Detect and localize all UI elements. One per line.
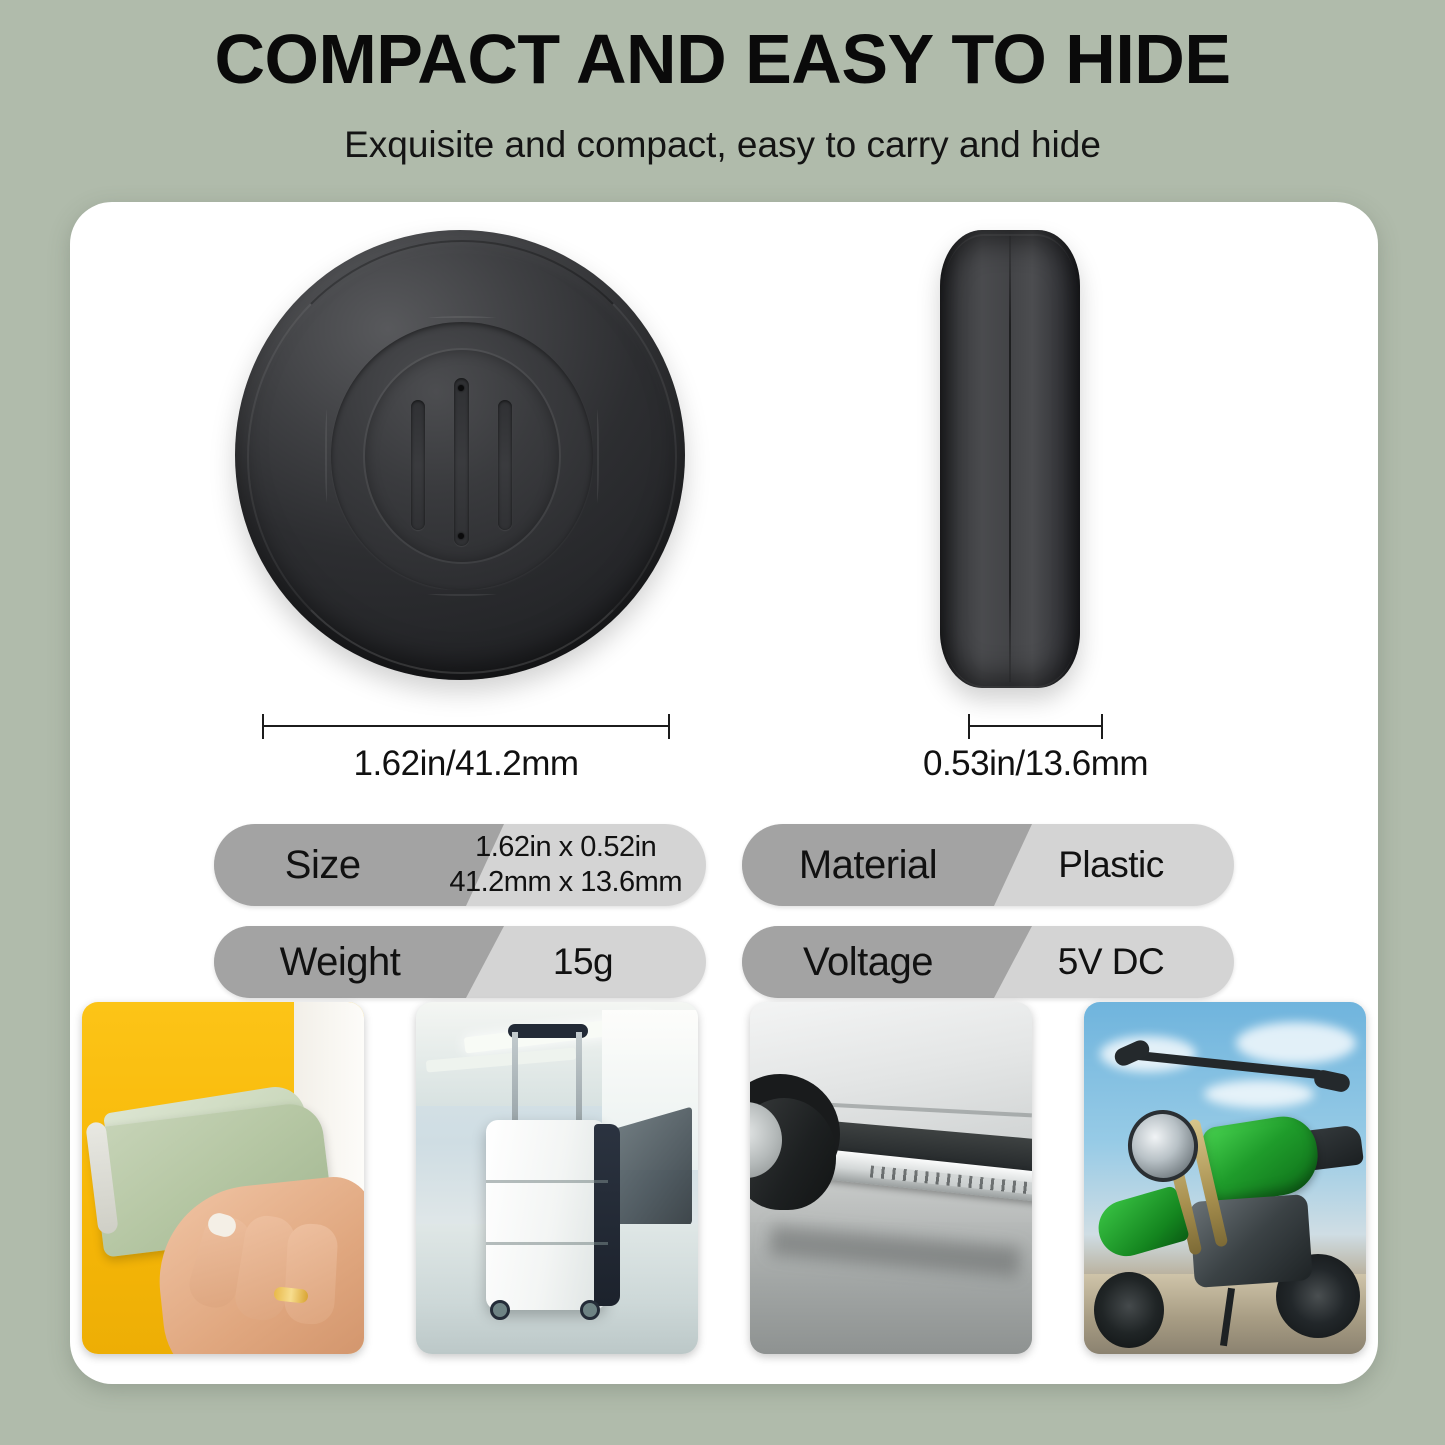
spec-value-size-line2: 41.2mm x 13.6mm bbox=[449, 865, 682, 900]
spec-row: Weight 15g Voltage 5V DC bbox=[70, 926, 1378, 998]
tracker-front-view-image bbox=[235, 230, 685, 680]
motorcycle-fuel-tank bbox=[1201, 1112, 1324, 1207]
finger bbox=[283, 1223, 338, 1325]
content-card: 1.62in/41.2mm 0.53in/13.6mm Size 1.62in … bbox=[70, 202, 1378, 1384]
suitcase-handle-bar bbox=[512, 1032, 518, 1124]
spec-list: Size 1.62in x 0.52in 41.2mm x 13.6mm Mat… bbox=[70, 824, 1378, 1018]
suitcase-handle-bar bbox=[576, 1032, 582, 1124]
suitcase-shell bbox=[486, 1120, 606, 1310]
cloud bbox=[1236, 1022, 1356, 1064]
page-title: COMPACT AND EASY TO HIDE bbox=[0, 0, 1445, 94]
spec-key-voltage: Voltage bbox=[742, 940, 994, 985]
spec-key-material: Material bbox=[742, 843, 994, 888]
photo-luggage bbox=[416, 1002, 698, 1354]
dimension-line bbox=[262, 725, 670, 727]
tracker-side-view-image bbox=[940, 230, 1080, 688]
spec-pill-weight: Weight 15g bbox=[214, 926, 706, 998]
spec-value-size-line1: 1.62in x 0.52in bbox=[449, 830, 682, 865]
dimension-line bbox=[968, 725, 1103, 727]
photo-car bbox=[750, 1002, 1032, 1354]
suitcase-side-panel bbox=[594, 1124, 620, 1306]
dimension-tick-left bbox=[968, 714, 970, 739]
photo-motorcycle bbox=[1084, 1002, 1366, 1354]
cloud bbox=[1204, 1080, 1314, 1108]
photo-wallet bbox=[82, 1002, 364, 1354]
page-subtitle: Exquisite and compact, easy to carry and… bbox=[0, 94, 1445, 163]
spec-value-weight: 15g bbox=[466, 942, 706, 982]
spec-value-voltage: 5V DC bbox=[994, 942, 1234, 982]
header: COMPACT AND EASY TO HIDE Exquisite and c… bbox=[0, 0, 1445, 200]
spec-value-material: Plastic bbox=[994, 845, 1234, 885]
motorcycle-front-fender bbox=[1092, 1185, 1190, 1263]
spec-value-size: 1.62in x 0.52in 41.2mm x 13.6mm bbox=[431, 830, 706, 901]
motorcycle-front-tire bbox=[1094, 1272, 1164, 1348]
suitcase-wheel bbox=[580, 1300, 600, 1320]
tracker-slot-right bbox=[498, 400, 512, 530]
spec-key-weight: Weight bbox=[214, 940, 466, 985]
use-case-photo-strip bbox=[70, 1002, 1378, 1354]
product-image-stage bbox=[70, 202, 1378, 702]
suitcase-seam bbox=[486, 1242, 608, 1245]
spec-row: Size 1.62in x 0.52in 41.2mm x 13.6mm Mat… bbox=[70, 824, 1378, 906]
dimension-tick-right bbox=[668, 714, 670, 739]
suitcase-seam bbox=[486, 1180, 608, 1183]
motorcycle-mirror bbox=[1313, 1068, 1352, 1093]
dimension-thickness-label: 0.53in/13.6mm bbox=[923, 744, 1148, 784]
tracker-slot-left bbox=[411, 400, 425, 530]
spec-key-size: Size bbox=[214, 843, 431, 888]
spec-pill-material: Material Plastic bbox=[742, 824, 1234, 906]
suitcase-wheel bbox=[490, 1300, 510, 1320]
motorcycle-headlight bbox=[1122, 1104, 1203, 1187]
dimension-tick-left bbox=[262, 714, 264, 739]
spec-pill-size: Size 1.62in x 0.52in 41.2mm x 13.6mm bbox=[214, 824, 706, 906]
tracker-slot-middle bbox=[454, 378, 469, 546]
tracker-pinhole-top bbox=[458, 385, 464, 391]
dimension-width-label: 1.62in/41.2mm bbox=[353, 744, 578, 784]
spec-pill-voltage: Voltage 5V DC bbox=[742, 926, 1234, 998]
dimension-tick-right bbox=[1101, 714, 1103, 739]
tracker-pinhole-bottom bbox=[458, 533, 464, 539]
